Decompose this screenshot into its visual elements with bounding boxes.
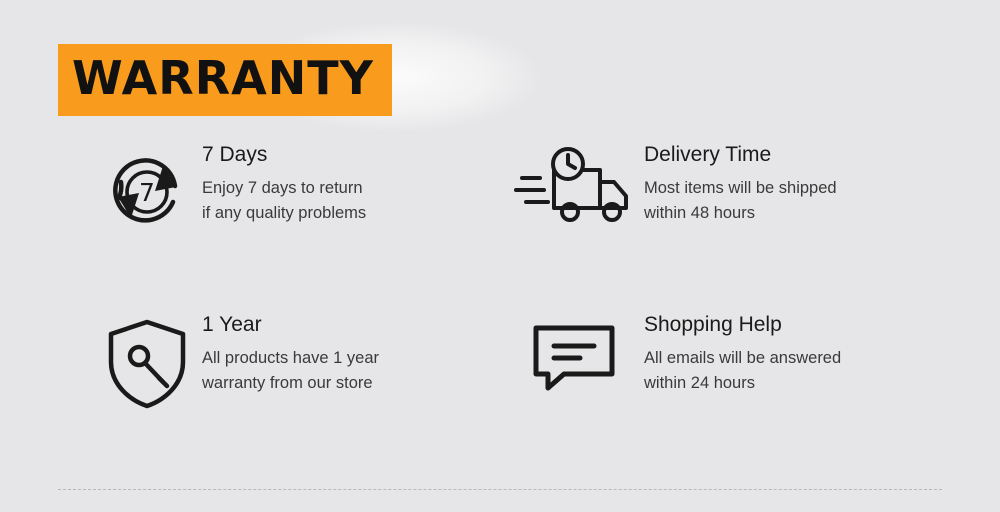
feature-description: Enjoy 7 days to return if any quality pr…	[202, 176, 366, 226]
bottom-divider	[58, 489, 942, 490]
delivery-truck-clock-icon	[504, 140, 644, 232]
feature-text: Shopping Help All emails will be answere…	[644, 310, 841, 396]
feature-item-delivery-time: Delivery Time Most items will be shipped…	[480, 140, 1000, 310]
feature-desc-line-1: All emails will be answered	[644, 346, 841, 371]
feature-desc-line-1: Enjoy 7 days to return	[202, 176, 366, 201]
feature-row-2: 1 Year All products have 1 year warranty…	[0, 310, 1000, 460]
shield-wrench-icon	[92, 310, 202, 412]
feature-desc-line-2: within 48 hours	[644, 201, 837, 226]
feature-desc-line-2: warranty from our store	[202, 371, 379, 396]
svg-text:7: 7	[139, 178, 155, 207]
feature-desc-line-1: All products have 1 year	[202, 346, 379, 371]
feature-text: 1 Year All products have 1 year warranty…	[202, 310, 379, 396]
feature-text: Delivery Time Most items will be shipped…	[644, 140, 837, 226]
feature-desc-line-2: within 24 hours	[644, 371, 841, 396]
feature-heading: 7 Days	[202, 142, 366, 168]
feature-description: Most items will be shipped within 48 hou…	[644, 176, 837, 226]
feature-item-shopping-help: Shopping Help All emails will be answere…	[480, 310, 1000, 460]
chat-bubble-icon	[504, 310, 644, 396]
feature-desc-line-2: if any quality problems	[202, 201, 366, 226]
feature-heading: 1 Year	[202, 312, 379, 338]
page-title: WARRANTY	[72, 50, 374, 106]
feature-item-1-year: 1 Year All products have 1 year warranty…	[0, 310, 480, 460]
return-arrows-7-icon: 7	[92, 140, 202, 238]
feature-heading: Delivery Time	[644, 142, 837, 168]
feature-desc-line-1: Most items will be shipped	[644, 176, 837, 201]
feature-row-1: 7 7 Days Enjoy 7 days to return if any q…	[0, 140, 1000, 310]
feature-description: All emails will be answered within 24 ho…	[644, 346, 841, 396]
warranty-banner: WARRANTY 7	[0, 0, 1000, 512]
title-highlight: WARRANTY	[58, 44, 392, 116]
feature-item-7-days: 7 7 Days Enjoy 7 days to return if any q…	[0, 140, 480, 310]
feature-grid: 7 7 Days Enjoy 7 days to return if any q…	[0, 140, 1000, 460]
feature-heading: Shopping Help	[644, 312, 841, 338]
feature-description: All products have 1 year warranty from o…	[202, 346, 379, 396]
feature-text: 7 Days Enjoy 7 days to return if any qua…	[202, 140, 366, 226]
